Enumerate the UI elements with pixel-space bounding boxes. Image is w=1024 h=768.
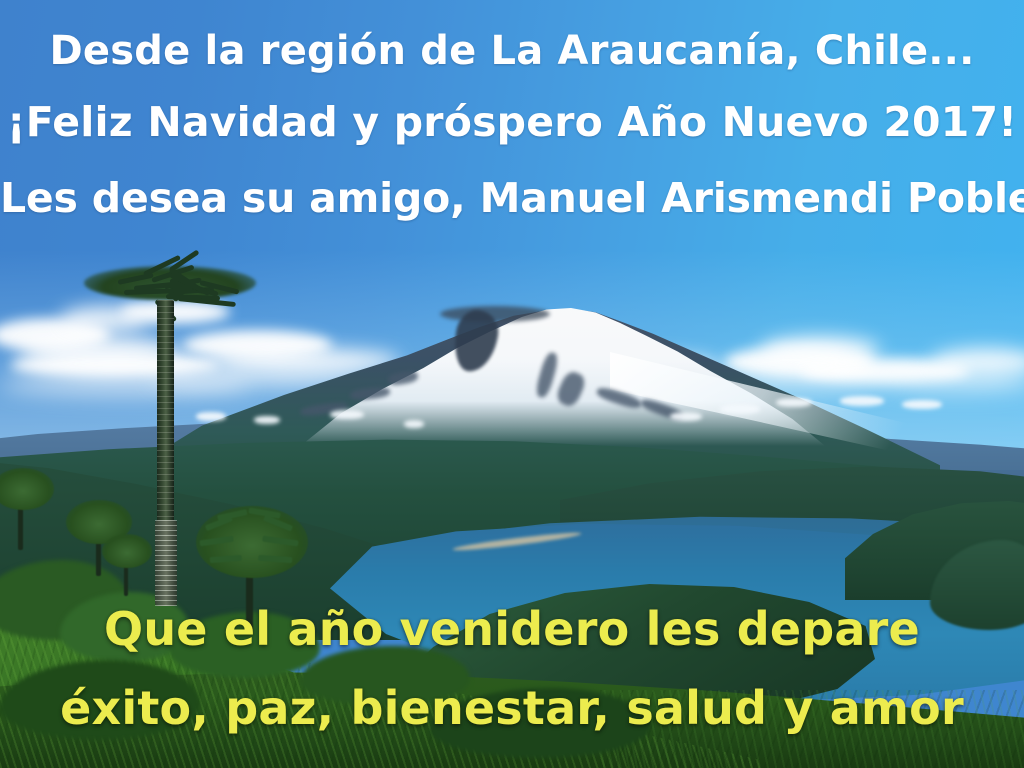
wish-line-2: éxito, paz, bienestar, salud y amor: [0, 681, 1024, 735]
greeting-card: Desde la región de La Araucanía, Chile..…: [0, 0, 1024, 768]
greeting-line-1: Desde la región de La Araucanía, Chile..…: [0, 30, 1024, 72]
greeting-line-3: Les desea su amigo, Manuel Arismendi Pob…: [0, 177, 1024, 220]
wish-line-1: Que el año venidero les depare: [0, 602, 1024, 656]
greeting-line-2: ¡Feliz Navidad y próspero Año Nuevo 2017…: [0, 101, 1024, 144]
text-overlay: Desde la región de La Araucanía, Chile..…: [0, 0, 1024, 768]
